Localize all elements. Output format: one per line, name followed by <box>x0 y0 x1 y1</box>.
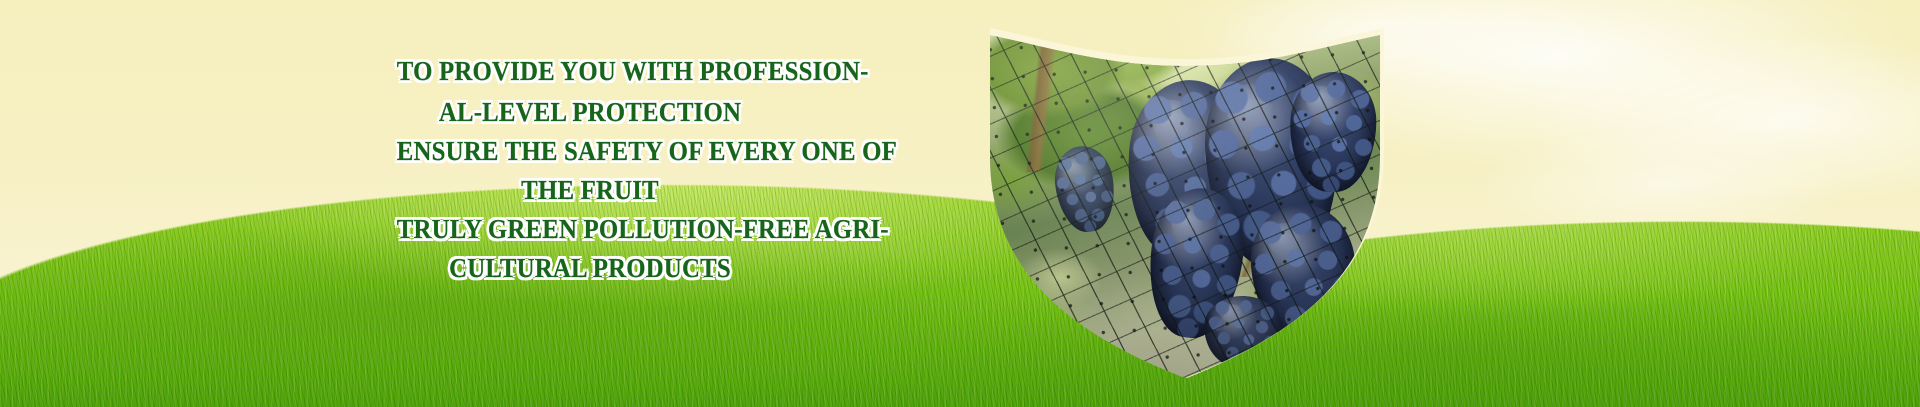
shield-emblem <box>990 28 1380 378</box>
headline-line-1: TO PROVIDE YOU WITH PROFESSION- <box>397 52 783 91</box>
headline-line-5: TRULY GREEN POLLUTION-FREE AGRI- <box>397 210 783 249</box>
headline-line-3: ENSURE THE SAFETY OF EVERY ONE OF <box>397 132 783 171</box>
shield-photo <box>990 28 1380 378</box>
headline-line-6: CULTURAL PRODUCTS <box>397 249 783 288</box>
grass-hill <box>0 55 1920 407</box>
headline-line-4: THE FRUIT <box>397 171 783 210</box>
grass-field <box>0 0 1920 407</box>
grass-shadow-layer <box>0 55 1920 407</box>
shield-shading <box>990 28 1380 378</box>
headline-line-2: AL-LEVEL PROTECTION <box>397 93 783 132</box>
promo-banner: TO PROVIDE YOU WITH PROFESSION- AL-LEVEL… <box>0 0 1920 407</box>
headline-text: TO PROVIDE YOU WITH PROFESSION- AL-LEVEL… <box>397 52 783 288</box>
